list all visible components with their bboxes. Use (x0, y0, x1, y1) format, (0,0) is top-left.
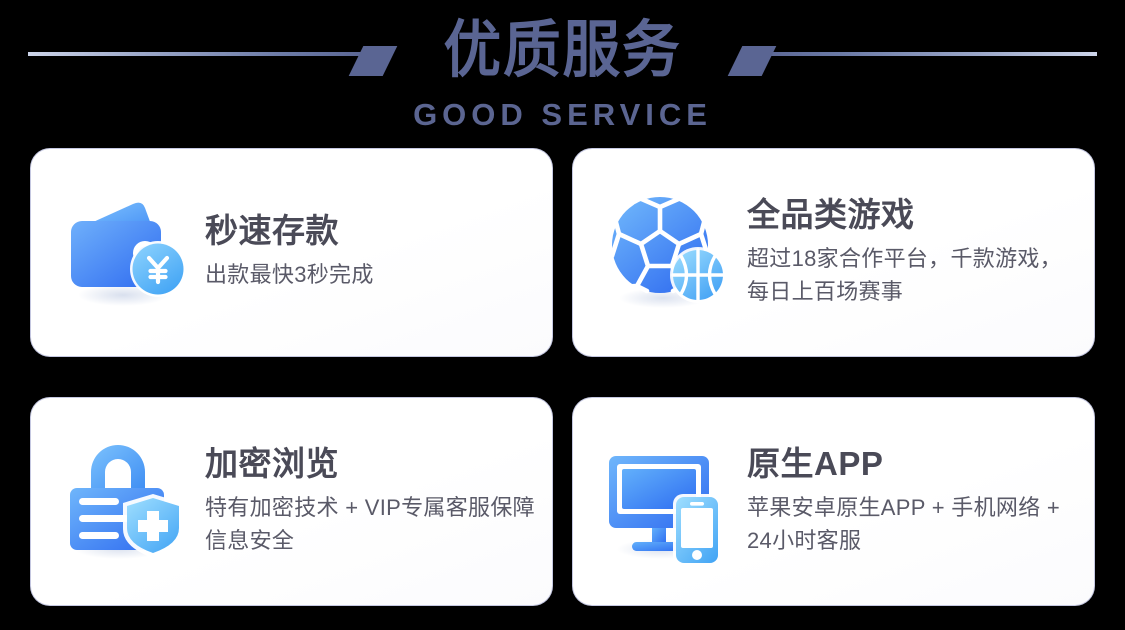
service-card-grid: 秒速存款 出款最快3秒完成 (30, 148, 1095, 606)
card-text-block: 全品类游戏 超过18家合作平台，千款游戏，每日上百场赛事 (739, 194, 1080, 312)
card-text-block: 秒速存款 出款最快3秒完成 (197, 210, 538, 295)
card-title: 全品类游戏 (747, 194, 1080, 236)
service-card-encryption[interactable]: 加密浏览 特有加密技术 + VIP专属客服保障信息安全 (30, 397, 553, 606)
card-title: 秒速存款 (205, 210, 538, 252)
lock-shield-icon (57, 432, 197, 572)
monitor-phone-icon (599, 432, 739, 572)
wallet-icon (57, 183, 197, 323)
service-card-deposit[interactable]: 秒速存款 出款最快3秒完成 (30, 148, 553, 357)
service-card-games[interactable]: 全品类游戏 超过18家合作平台，千款游戏，每日上百场赛事 (572, 148, 1095, 357)
card-text-block: 加密浏览 特有加密技术 + VIP专属客服保障信息安全 (197, 443, 538, 561)
card-description: 出款最快3秒完成 (205, 258, 535, 291)
card-description: 苹果安卓原生APP + 手机网络 + 24小时客服 (747, 491, 1080, 557)
banner-header: 优质服务 GOOD SERVICE (0, 0, 1125, 140)
soccer-ball-icon (599, 183, 739, 323)
service-card-native-app[interactable]: 原生APP 苹果安卓原生APP + 手机网络 + 24小时客服 (572, 397, 1095, 606)
card-description: 超过18家合作平台，千款游戏，每日上百场赛事 (747, 242, 1080, 308)
good-service-banner: 优质服务 GOOD SERVICE (0, 0, 1125, 630)
page-subtitle: GOOD SERVICE (0, 98, 1125, 132)
card-description: 特有加密技术 + VIP专属客服保障信息安全 (205, 491, 538, 557)
card-title: 加密浏览 (205, 443, 538, 485)
card-title: 原生APP (747, 443, 1080, 485)
card-text-block: 原生APP 苹果安卓原生APP + 手机网络 + 24小时客服 (739, 443, 1080, 561)
page-title: 优质服务 (39, 12, 1085, 90)
